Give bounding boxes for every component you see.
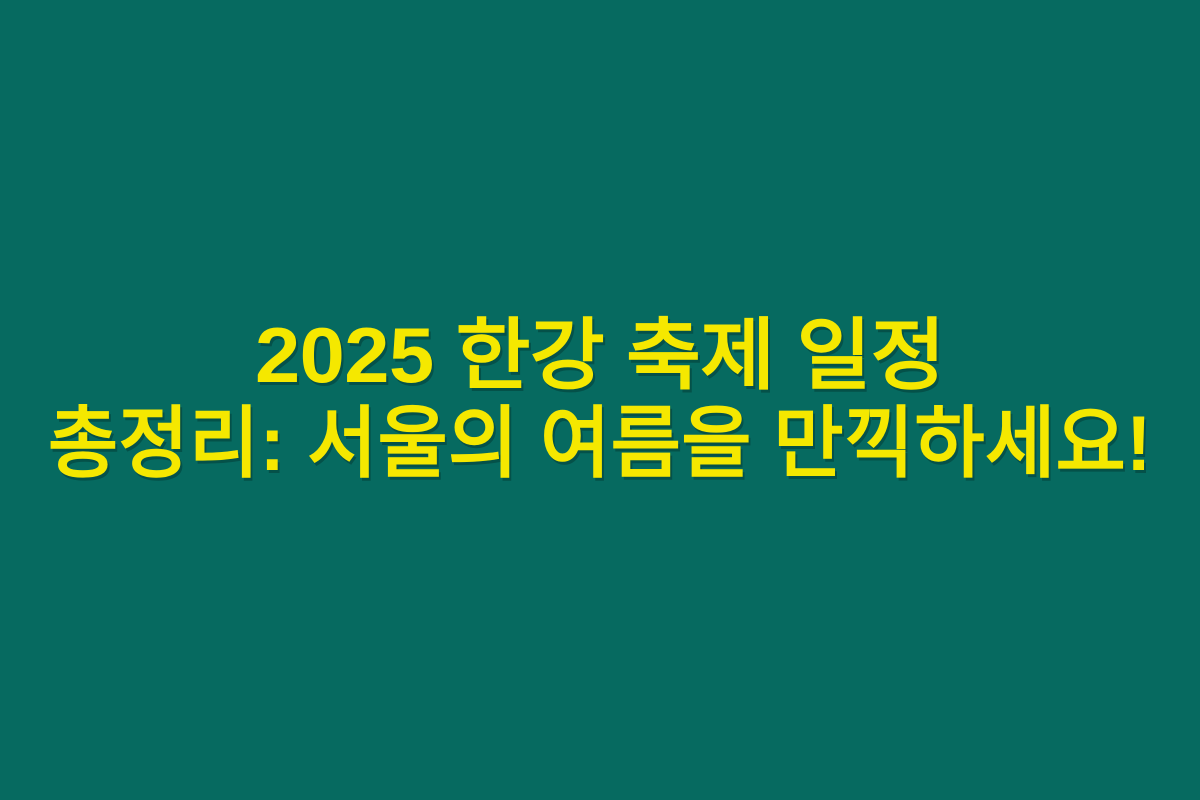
headline-block: 2025 한강 축제 일정 총정리: 서울의 여름을 만끽하세요! xyxy=(0,311,1200,487)
banner-card: 2025 한강 축제 일정 총정리: 서울의 여름을 만끽하세요! xyxy=(0,0,1200,800)
headline-line-2: 총정리: 서울의 여름을 만끽하세요! xyxy=(14,399,1185,487)
headline-line-1: 2025 한강 축제 일정 xyxy=(0,311,1200,399)
